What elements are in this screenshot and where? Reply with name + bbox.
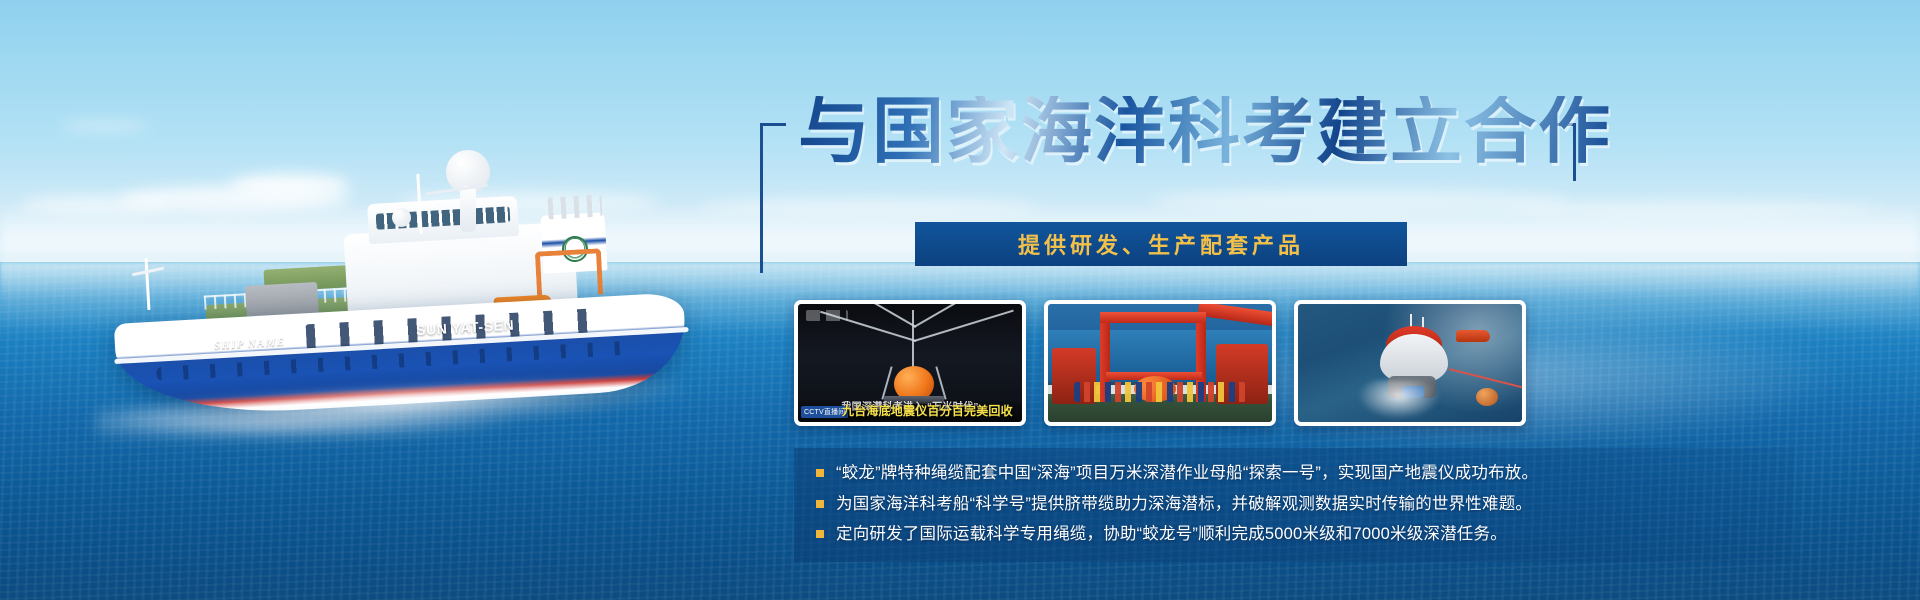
page-title: 与国家海洋科考建立合作 — [798, 96, 1612, 168]
cloud-icon — [60, 120, 150, 132]
ship-radome-small-icon — [392, 208, 411, 227]
frame-leg-icon — [881, 366, 892, 399]
bullet-marker-icon — [816, 530, 824, 538]
list-item: 为国家海洋科考船“科学号”提供脐带缆助力深海潜标，并破解观测数据实时传输的世界性… — [794, 489, 1794, 520]
list-item: “蛟龙”牌特种绳缆配套中国“深海”项目万米深潜作业母船“探索一号”，实现国产地震… — [794, 458, 1794, 489]
cable-icon — [914, 310, 1014, 342]
bullet-marker-icon — [816, 469, 824, 477]
sea-foam — [1356, 380, 1442, 420]
hoist-line-icon — [912, 310, 914, 368]
ship-foremast — [145, 258, 151, 310]
bullet-marker-icon — [816, 500, 824, 508]
ship-radome-mount — [460, 186, 476, 232]
banner-content: 与国家海洋科考建立合作 提供研发、生产配套产品 我国深潜科考进入 “万米时代” … — [760, 0, 1920, 600]
bracket-left-decoration — [760, 123, 786, 273]
banner-stage: SHIP NAME SUN YAT-SEN 与国家海洋科考建立合作 提供研发、生… — [0, 0, 1920, 600]
ship-a-frame-crane — [535, 248, 603, 297]
achievements-panel: “蛟龙”牌特种绳缆配套中国“深海”项目万米深潜作业母船“探索一号”，实现国产地震… — [794, 448, 1794, 562]
thumbnail-night-recovery[interactable]: 我国深潜科考进入 “万米时代” CCTV直播间 九台海底地震仪百分百完美回收 — [794, 300, 1026, 426]
buoy-icon — [1476, 388, 1498, 406]
thumbnail-deck-aframe[interactable] — [1044, 300, 1276, 426]
a-frame-top-icon — [1100, 312, 1206, 323]
rescue-boat-icon — [1456, 330, 1490, 342]
thumbnail-caption-bottom: 九台海底地震仪百分百完美回收 — [842, 402, 1020, 419]
thumbnail-submersible[interactable] — [1294, 300, 1526, 426]
research-vessel-illustration: SHIP NAME SUN YAT-SEN — [96, 140, 716, 460]
cable-icon — [820, 311, 916, 342]
crew-members-icon — [1074, 382, 1246, 402]
list-item-text: 为国家海洋科考船“科学号”提供脐带缆助力深海潜标，并破解观测数据实时传输的世界性… — [836, 491, 1532, 518]
list-item: 定向研发了国际运载科学专用绳缆，协助“蛟龙号”顺利完成5000米级和7000米级… — [794, 519, 1794, 550]
thumbnail-gallery: 我国深潜科考进入 “万米时代” CCTV直播间 九台海底地震仪百分百完美回收 — [794, 300, 1526, 426]
ship-exhaust-pipes — [547, 195, 602, 220]
subtitle-bar: 提供研发、生产配套产品 — [915, 222, 1407, 266]
deck-crane-icon — [1197, 302, 1276, 329]
list-item-text: 定向研发了国际运载科学专用绳缆，协助“蛟龙号”顺利完成5000米级和7000米级… — [836, 521, 1507, 548]
subtitle-text: 提供研发、生产配套产品 — [1018, 228, 1304, 260]
frame-leg-icon — [935, 366, 946, 399]
list-item-text: “蛟龙”牌特种绳缆配套中国“深海”项目万米深潜作业母船“探索一号”，实现国产地震… — [836, 460, 1538, 487]
